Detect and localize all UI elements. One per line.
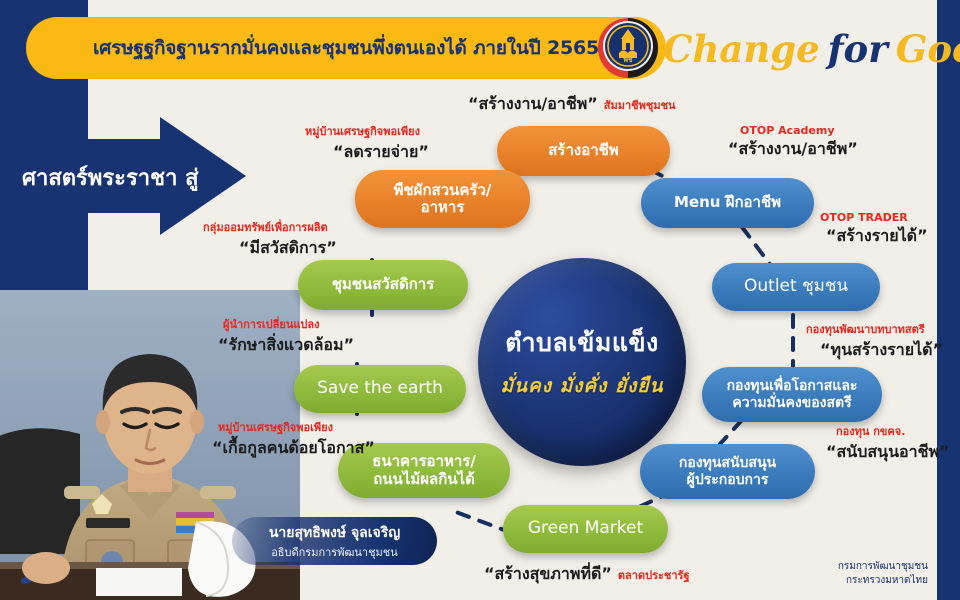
node-label: Menu ฝึกอาชีพ bbox=[674, 194, 781, 211]
center-hub-circle: ตำบลเข้มแข็ง มั่นคง มั่งคั่ง ยั่งยืน bbox=[478, 258, 686, 466]
annotation-quote: “รักษาสิ่งแวดล้อม” bbox=[218, 333, 354, 358]
node-label: กองทุนสนับสนุน ผู้ประกอบการ bbox=[679, 455, 776, 487]
arrow-label: ศาสตร์พระราชา สู่ bbox=[22, 160, 199, 195]
annotation-right-3: กองทุนพัฒนาบทบาทสตรี “ทุนสร้างรายได้” bbox=[806, 320, 943, 363]
official-name: นายสุทธิพงษ์ จุลเจริญ bbox=[269, 522, 400, 544]
annotation-quote: “ทุนสร้างรายได้” bbox=[820, 338, 943, 363]
tagline-change: Change bbox=[663, 31, 820, 68]
node-label: Outlet ชุมชน bbox=[744, 277, 848, 297]
change-for-good-tagline: Change for Good bbox=[663, 20, 943, 78]
annotation-quote: “สร้างงาน/อาชีพ” bbox=[728, 137, 858, 162]
annotation-source: ตลาดประชารัฐ bbox=[618, 566, 690, 584]
node-label: Green Market bbox=[528, 519, 643, 539]
annotation-left-3: หมู่บ้านเศรษฐกิจพอเพียง “เกื้อกูลคนด้อยโ… bbox=[218, 418, 375, 461]
right-strip-vertical-text: กรมการพัฒนาชุมชน bbox=[945, 594, 958, 600]
node-label: Save the earth bbox=[317, 379, 443, 399]
node-chumchon-sawat[interactable]: ชุมชนสวัสดิการ bbox=[298, 260, 468, 310]
annotation-source: สัมมาชีพชุมชน bbox=[604, 96, 676, 114]
annotation-top-left: หมู่บ้านเศรษฐกิจพอเพียง “ลดรายจ่าย” bbox=[305, 122, 429, 165]
annotation-quote: “สร้างงาน/อาชีพ” bbox=[468, 92, 598, 117]
node-label: ธนาคารอาหาร/ ถนนไม้ผลกินได้ bbox=[372, 453, 476, 488]
header-banner: เศรษฐฐกิจฐานรากมั่นคงและชุมชนพึ่งตนเองได… bbox=[26, 17, 666, 79]
node-menu-fuek[interactable]: Menu ฝึกอาชีพ bbox=[641, 178, 814, 228]
tagline-good: Good bbox=[896, 31, 960, 68]
annotation-quote: “สนับสนุนอาชีพ” bbox=[826, 440, 950, 465]
cdd-emblem-logo: พช bbox=[597, 17, 659, 79]
annotation-quote: “เกื้อกูลคนด้อยโอกาส” bbox=[212, 436, 375, 461]
credits: กรมการพัฒนาชุมชน กระทรวงมหาดไทย bbox=[838, 560, 928, 588]
annotation-quote: “สร้างสุขภาพที่ดี” bbox=[484, 562, 612, 587]
official-position: อธิบดีกรมการพัฒนาชุมชน bbox=[271, 543, 398, 561]
annotation-right-1: OTOP Academy “สร้างงาน/อาชีพ” bbox=[728, 124, 858, 162]
right-navy-strip: กรมการพัฒนาชุมชน bbox=[937, 0, 960, 600]
node-outlet-chumchon[interactable]: Outlet ชุมชน bbox=[712, 263, 880, 311]
annotation-source: OTOP TRADER bbox=[820, 211, 928, 224]
annotation-source: OTOP Academy bbox=[740, 124, 858, 137]
annotation-quote: “ลดรายจ่าย” bbox=[333, 140, 429, 165]
node-label: สร้างอาชีพ bbox=[548, 142, 618, 159]
hub-subtitle: มั่นคง มั่งคั่ง ยั่งยืน bbox=[500, 371, 663, 401]
annotation-left-2: ผู้นำการเปลี่ยนแปลง “รักษาสิ่งแวดล้อม” bbox=[223, 315, 354, 358]
svg-text:พช: พช bbox=[623, 56, 633, 64]
node-kongtun-okat[interactable]: กองทุนเพื่อโอกาสและ ความมั่นคงของสตรี bbox=[702, 367, 882, 422]
tagline-for: for bbox=[828, 31, 888, 68]
credits-line-2: กระทรวงมหาดไทย bbox=[838, 574, 928, 588]
annotation-right-4: กองทุน กขคจ. “สนับสนุนอาชีพ” bbox=[826, 422, 950, 465]
annotation-source: หมู่บ้านเศรษฐกิจพอเพียง bbox=[218, 418, 375, 436]
node-kongtun-sanub[interactable]: กองทุนสนับสนุน ผู้ประกอบการ bbox=[640, 444, 815, 499]
annotation-bottom: “สร้างสุขภาพที่ดี” ตลาดประชารัฐ bbox=[484, 562, 690, 587]
nameplate: นายสุทธิพงษ์ จุลเจริญ อธิบดีกรมการพัฒนาช… bbox=[232, 517, 437, 565]
annotation-source: กลุ่มออมทรัพย์เพื่อการผลิต bbox=[203, 218, 337, 236]
annotation-right-2: OTOP TRADER “สร้างรายได้” bbox=[820, 211, 928, 249]
annotation-source: ผู้นำการเปลี่ยนแปลง bbox=[223, 315, 354, 333]
banner-title: เศรษฐฐกิจฐานรากมั่นคงและชุมชนพึ่งตนเองได… bbox=[93, 33, 599, 63]
annotation-source: กองทุน กขคจ. bbox=[836, 422, 950, 440]
node-label: พืชผักสวนครัว/ อาหาร bbox=[394, 182, 492, 217]
node-sang-archeep[interactable]: สร้างอาชีพ bbox=[497, 126, 670, 176]
annotation-source: กองทุนพัฒนาบทบาทสตรี bbox=[806, 320, 943, 338]
infographic-canvas: กรมการพัฒนาชุมชน เศรษฐฐกิจฐานรากมั่นคงแล… bbox=[0, 0, 960, 600]
node-save-earth[interactable]: Save the earth bbox=[294, 365, 466, 413]
annotation-source: หมู่บ้านเศรษฐกิจพอเพียง bbox=[305, 122, 429, 140]
node-green-market[interactable]: Green Market bbox=[503, 505, 668, 553]
node-label: กองทุนเพื่อโอกาสและ ความมั่นคงของสตรี bbox=[727, 378, 858, 410]
annotation-quote: “มีสวัสดิการ” bbox=[239, 236, 337, 261]
annotation-left-1: กลุ่มออมทรัพย์เพื่อการผลิต “มีสวัสดิการ” bbox=[203, 218, 337, 261]
node-label: ชุมชนสวัสดิการ bbox=[332, 276, 435, 293]
annotation-top-center: “สร้างงาน/อาชีพ” สัมมาชีพชุมชน bbox=[468, 92, 676, 117]
hub-title: ตำบลเข้มแข็ง bbox=[505, 323, 659, 363]
node-puch-pak[interactable]: พืชผักสวนครัว/ อาหาร bbox=[355, 170, 530, 228]
credits-line-1: กรมการพัฒนาชุมชน bbox=[838, 560, 928, 574]
annotation-quote: “สร้างรายได้” bbox=[826, 224, 928, 249]
